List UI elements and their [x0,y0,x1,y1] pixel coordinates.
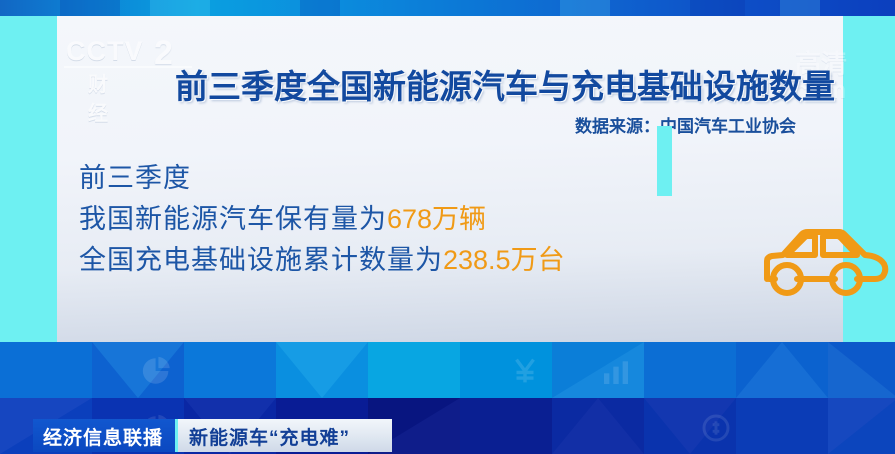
statistics-block: 前三季度 我国新能源汽车保有量为678万辆 全国充电基础设施累计数量为238.5… [79,158,565,281]
pie-chart-icon [140,354,174,393]
stat-line-3-value: 238.5万台 [443,245,565,275]
cctv-channel-number: 2 [154,34,173,73]
yen-symbol-icon [508,354,542,393]
content-panel: CCTV 2 财 经 高清 .com 前三季度全国新能源汽车与充电基础设施数量 … [57,16,843,342]
program-name-label: 经济信息联播 [43,423,163,450]
stat-line-2: 我国新能源汽车保有量为678万辆 [79,199,565,240]
topic-banner: 新能源车“充电难” [178,419,392,452]
car-icon [747,221,895,306]
stat-line-1-prefix: 前三季度 [79,163,191,193]
stat-line-2-prefix: 我国新能源汽车保有量为 [79,204,387,234]
coin-icon [700,412,732,449]
cyan-accent-bar [657,126,672,196]
page-title: 前三季度全国新能源汽车与充电基础设施数量 [175,60,835,108]
stat-line-3: 全国充电基础设施累计数量为238.5万台 [79,240,565,281]
top-gradient-bar [0,0,895,16]
stat-line-1: 前三季度 [79,158,565,199]
cctv-logo-rule [64,66,192,68]
program-name-banner: 经济信息联播 [33,419,175,452]
topic-label: 新能源车“充电难” [189,423,350,450]
cctv-network-text: CCTV [66,36,144,67]
broadcast-graphic: CCTV 2 财 经 高清 .com 前三季度全国新能源汽车与充电基础设施数量 … [0,0,895,454]
stat-line-2-value: 678万辆 [387,204,486,234]
left-accent-rail [0,16,57,342]
data-source-label: 数据来源：中国汽车工业协会 [575,112,796,137]
stat-line-3-prefix: 全国充电基础设施累计数量为 [79,245,443,275]
bar-chart-icon [600,356,632,393]
